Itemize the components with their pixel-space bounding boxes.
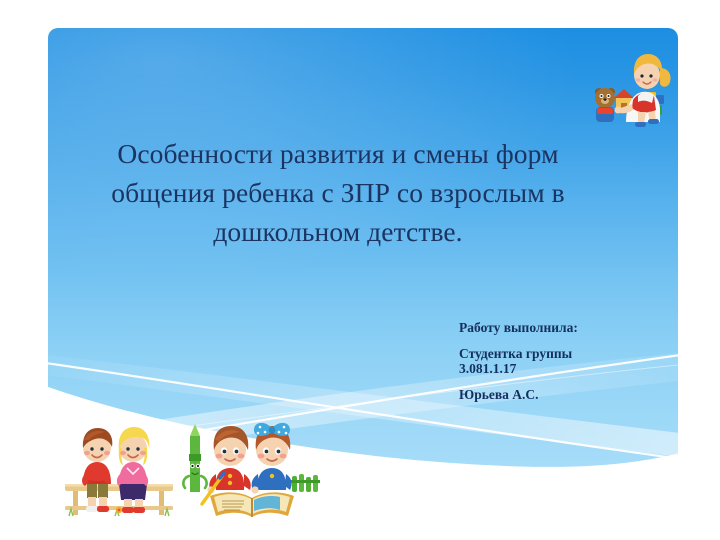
author-name: Юрьева А.С. [459, 387, 659, 402]
title-line-3: дошкольном детстве. [78, 212, 598, 251]
two-children-on-bench-illustration [57, 418, 181, 520]
title-line-2: общения ребенка с ЗПР со взрослым в [78, 173, 598, 212]
author-group-number: 3.081.1.17 [459, 361, 659, 376]
slide-title: Особенности развития и смены форм общени… [78, 134, 598, 251]
author-block: Работу выполнила: Студентка группы 3.081… [459, 320, 659, 402]
two-children-reading-book-illustration [180, 418, 326, 522]
author-group-line: Студентка группы [459, 346, 659, 361]
title-slide: Особенности развития и смены форм общени… [0, 0, 720, 540]
girl-playing-with-teddy-bear-illustration [586, 28, 678, 132]
author-group: Студентка группы 3.081.1.17 [459, 346, 659, 376]
author-label: Работу выполнила: [459, 320, 659, 335]
title-line-1: Особенности развития и смены форм [78, 134, 598, 173]
